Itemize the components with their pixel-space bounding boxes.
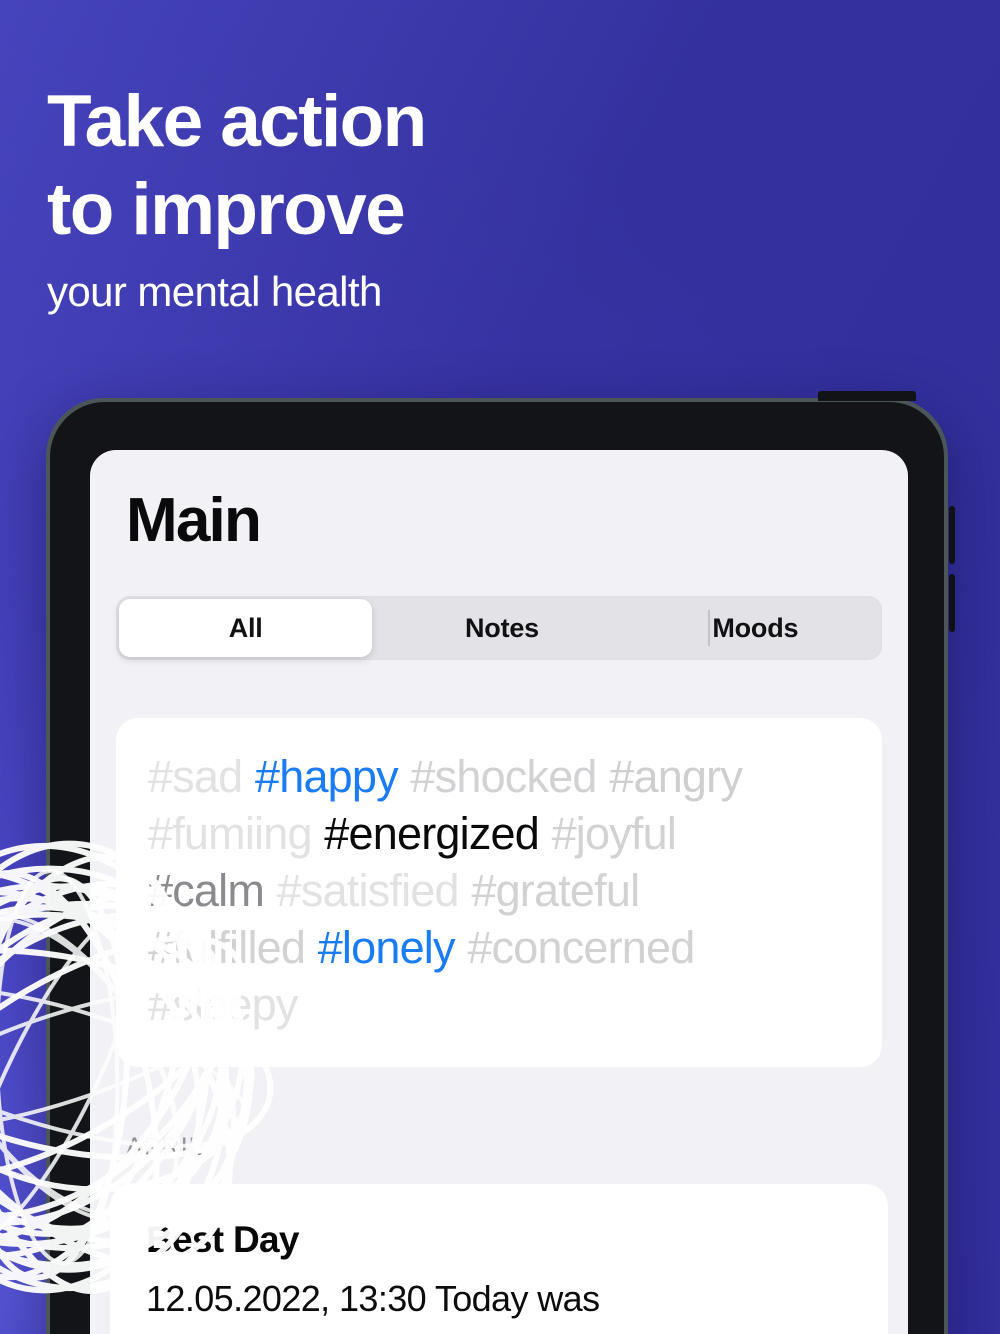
tab-notes[interactable]: Notes bbox=[375, 596, 628, 660]
mood-tag-concerned[interactable]: #concerned bbox=[467, 922, 694, 973]
mood-tag-sad[interactable]: #sad bbox=[148, 751, 242, 802]
mood-tag-row: #fumiing#energized#joyful bbox=[148, 805, 850, 862]
mood-tag-row: #fulfilled#lonely#concerned bbox=[148, 919, 850, 976]
segmented-control[interactable]: All Notes Moods bbox=[116, 596, 882, 660]
promo-screenshot: Take action to improve your mental healt… bbox=[0, 0, 1000, 1334]
mood-tag-happy[interactable]: #happy bbox=[255, 751, 398, 802]
mood-tag-lonely[interactable]: #lonely bbox=[318, 922, 455, 973]
note-title: Best Day bbox=[146, 1218, 852, 1262]
tab-all[interactable]: All bbox=[119, 599, 372, 657]
promo-headline: Take action to improve bbox=[47, 78, 667, 254]
tab-notes-label: Notes bbox=[465, 613, 539, 644]
app-screen: Main All Notes Moods #sad#happy#shocked#… bbox=[90, 450, 908, 1334]
mood-tag-row: #sleepy bbox=[148, 976, 850, 1033]
tab-all-label: All bbox=[229, 613, 263, 644]
tab-moods-label: Moods bbox=[712, 613, 798, 644]
mood-tag-fumiing[interactable]: #fumiing bbox=[148, 808, 312, 859]
page-title: Main bbox=[90, 450, 908, 554]
promo-headline-block: Take action to improve your mental healt… bbox=[47, 78, 667, 318]
volume-up-button[interactable] bbox=[949, 506, 955, 564]
volume-down-button[interactable] bbox=[949, 574, 955, 632]
mood-tag-row: #sad#happy#shocked#angry bbox=[148, 748, 850, 805]
mood-tag-fulfilled[interactable]: #fulfilled bbox=[148, 922, 305, 973]
note-card[interactable]: Best Day 12.05.2022, 13:30 Today was bbox=[110, 1184, 888, 1334]
mood-tag-row: #calm#satisfied#grateful bbox=[148, 862, 850, 919]
mood-tag-grateful[interactable]: #grateful bbox=[471, 865, 639, 916]
mood-tag-satisfied[interactable]: #satisfied bbox=[277, 865, 459, 916]
phone-top-button bbox=[818, 391, 916, 401]
mood-tag-joyful[interactable]: #joyful bbox=[552, 808, 676, 859]
mood-tag-angry[interactable]: #angry bbox=[609, 751, 742, 802]
note-body: 12.05.2022, 13:30 Today was bbox=[146, 1276, 852, 1322]
promo-subheadline: your mental health bbox=[47, 266, 667, 318]
mood-tag-cloud-card: #sad#happy#shocked#angry #fumiing#energi… bbox=[116, 718, 882, 1067]
mood-tag-calm[interactable]: #calm bbox=[148, 865, 264, 916]
phone-mockup: Main All Notes Moods #sad#happy#shocked#… bbox=[46, 398, 948, 1334]
mood-tag-sleepy[interactable]: #sleepy bbox=[148, 979, 298, 1030]
mood-tag-energized[interactable]: #energized bbox=[324, 808, 539, 859]
mood-tag-shocked[interactable]: #shocked bbox=[410, 751, 596, 802]
tab-moods[interactable]: Moods bbox=[629, 596, 882, 660]
month-section-header: APRIL bbox=[126, 1133, 908, 1162]
